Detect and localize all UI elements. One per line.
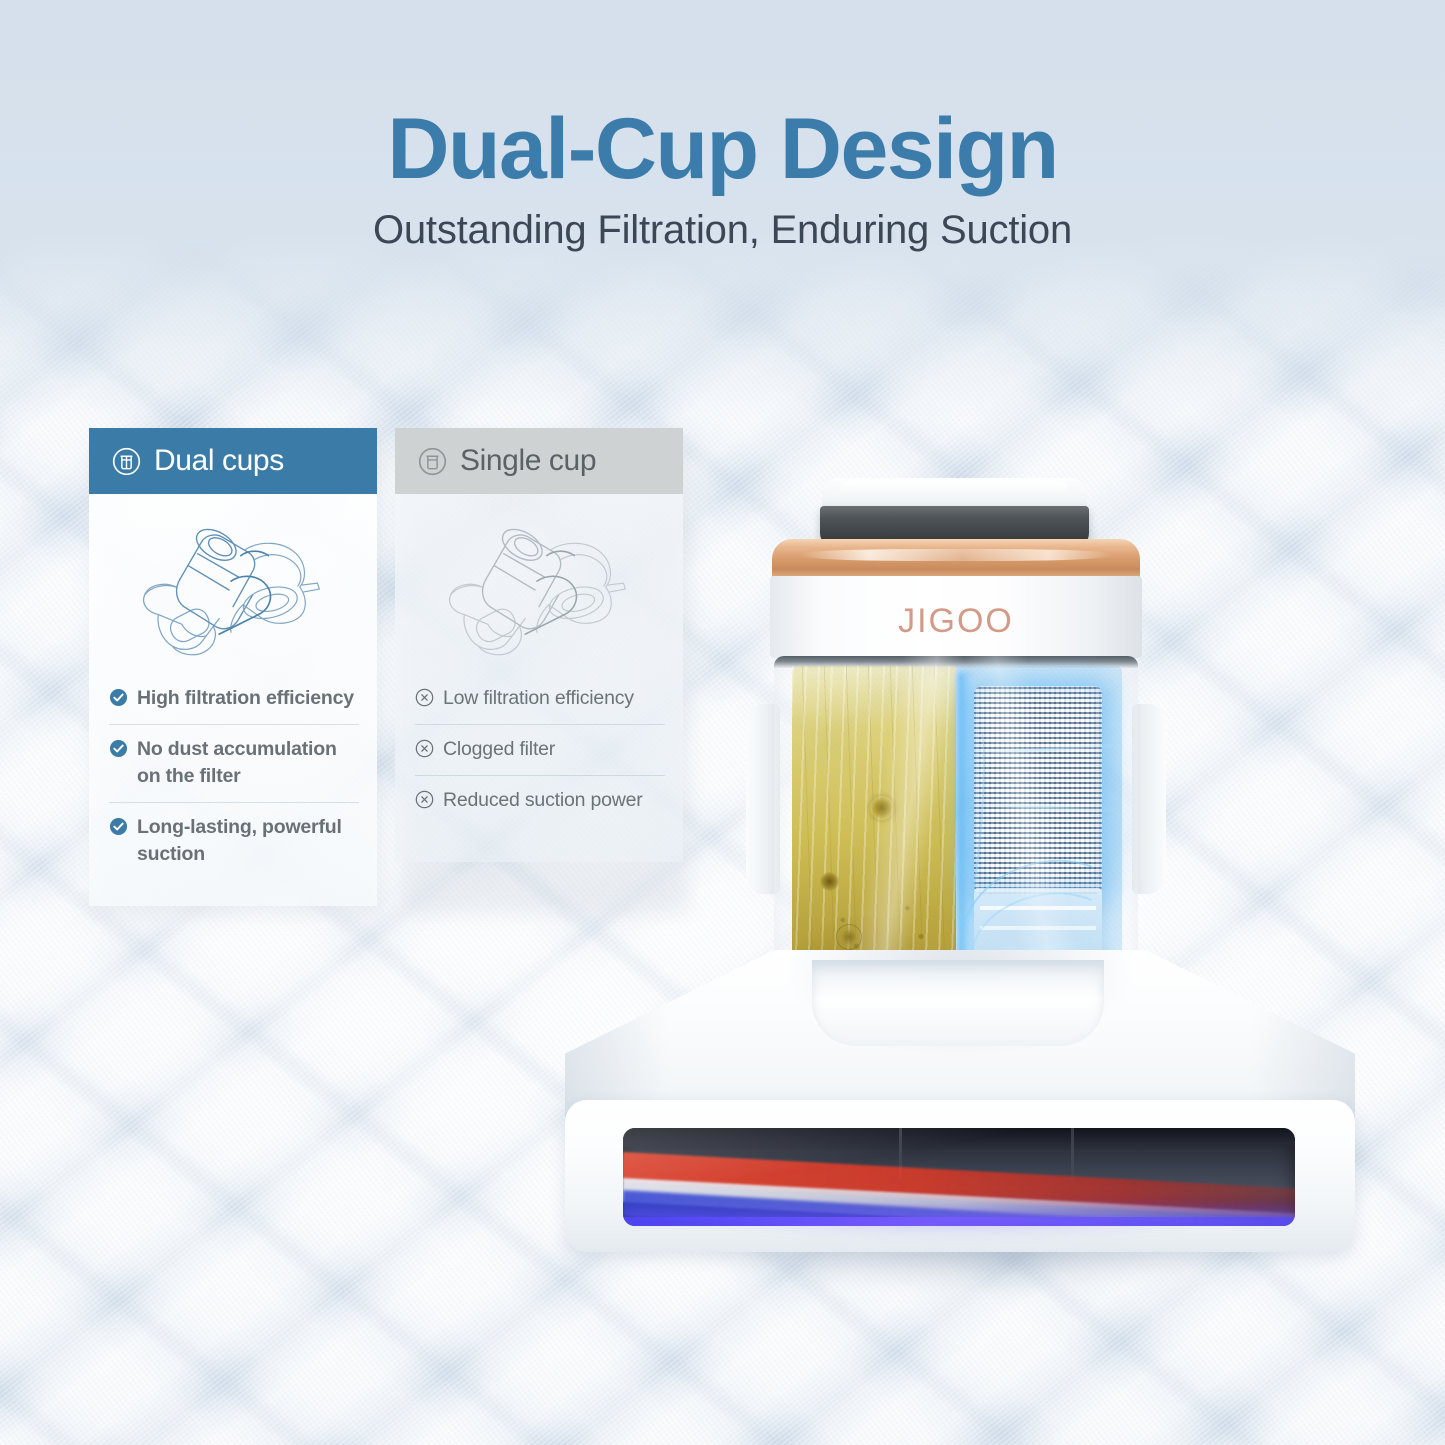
- cross-circle-outline-icon: [415, 790, 434, 809]
- bullet-text: High filtration efficiency: [137, 685, 354, 712]
- uv-light-spill: [616, 1218, 1302, 1258]
- page-title: Dual-Cup Design: [0, 104, 1445, 194]
- bullet-text: Reduced suction power: [443, 787, 643, 814]
- page-subtitle: Outstanding Filtration, Enduring Suction: [0, 208, 1445, 253]
- card-header-dual-cups: Dual cups: [89, 428, 377, 494]
- dust-mite-particle: [870, 796, 894, 820]
- card-body-single-cup: Low filtration efficiency Clogged filter: [395, 494, 683, 862]
- bullet-text: No dust accumulation on the filter: [137, 736, 359, 790]
- check-circle-filled-icon: [109, 739, 128, 758]
- comparison-card-dual-cups: Dual cups: [89, 428, 377, 906]
- product-feature-banner: Dual-Cup Design Outstanding Filtration, …: [0, 0, 1445, 1445]
- brand-logo-text: JIGOO: [770, 602, 1142, 641]
- illustration-wrap: [395, 514, 683, 666]
- card-body-dual-cups: High filtration efficiency No dust accum…: [89, 494, 377, 906]
- roller-glass-gloss: [623, 1128, 1295, 1226]
- bullet-item: Clogged filter: [415, 724, 665, 775]
- single-cup-icon: [417, 446, 448, 477]
- bullet-item: High filtration efficiency: [109, 674, 359, 724]
- bullet-text: Clogged filter: [443, 736, 555, 763]
- comparison-card-single-cup: Single cup: [395, 428, 683, 906]
- dust-mite-particle: [820, 872, 839, 891]
- check-circle-filled-icon: [109, 817, 128, 836]
- bullet-item: Low filtration efficiency: [415, 674, 665, 724]
- comparison-table: Dual cups: [89, 428, 683, 906]
- cross-circle-outline-icon: [415, 688, 434, 707]
- check-circle-filled-icon: [109, 688, 128, 707]
- card-header-single-cup: Single cup: [395, 428, 683, 494]
- bullet-text: Long-lasting, powerful suction: [137, 814, 359, 868]
- top-lid-gloss: [838, 480, 1070, 494]
- bullet-item: Reduced suction power: [415, 775, 665, 826]
- bullet-text: Low filtration efficiency: [443, 685, 634, 712]
- illustration-wrap: [89, 514, 377, 666]
- card-header-label: Single cup: [460, 444, 596, 478]
- cup-seat-recess: [812, 960, 1104, 1046]
- vacuum-line-art-gray-icon: [431, 516, 647, 664]
- bullet-item: Long-lasting, powerful suction: [109, 802, 359, 880]
- dust-mite-particle: [836, 924, 862, 950]
- vacuum-line-art-blue-icon: [125, 516, 341, 664]
- cross-circle-outline-icon: [415, 739, 434, 758]
- headline-block: Dual-Cup Design Outstanding Filtration, …: [0, 104, 1445, 253]
- bullet-item: No dust accumulation on the filter: [109, 724, 359, 802]
- roller-brush-window: [623, 1128, 1295, 1226]
- bullet-list-dual-cups: High filtration efficiency No dust accum…: [89, 666, 377, 880]
- dual-cup-icon: [111, 446, 142, 477]
- bullet-list-single-cup: Low filtration efficiency Clogged filter: [395, 666, 683, 826]
- card-header-label: Dual cups: [154, 444, 284, 478]
